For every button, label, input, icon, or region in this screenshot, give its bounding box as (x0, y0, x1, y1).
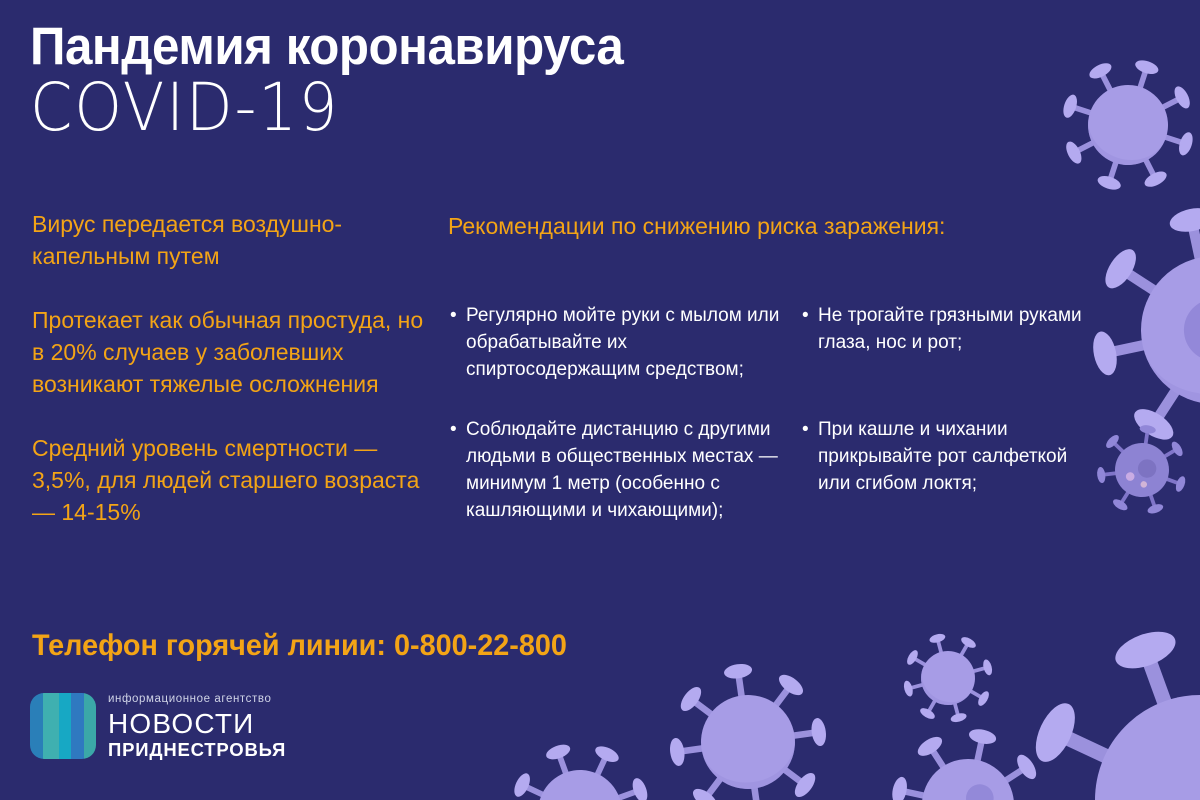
recommendations-heading: Рекомендации по снижению риска заражения… (448, 210, 968, 243)
fact-item: Средний уровень смертности — 3,5%, для л… (32, 432, 432, 528)
bullet-text: Регулярно мойте руки с мылом или обрабат… (466, 305, 779, 380)
fact-item: Протекает как обычная простуда, но в 20%… (32, 304, 432, 400)
hotline-text: Телефон горячей линии: 0-800-22-800 (32, 627, 567, 665)
facts-column: Вирус передается воздушно-капельным путе… (32, 208, 432, 528)
bullet-text: Не трогайте грязными руками глаза, нос и… (818, 305, 1082, 353)
fact-item: Вирус передается воздушно-капельным путе… (32, 208, 432, 272)
logo-text-block: информационное агентство НОВОСТИ ПРИДНЕС… (108, 692, 286, 761)
bullet-item: • При кашле и чихании прикрывайте рот са… (800, 416, 1100, 497)
bullet-text: Соблюдайте дистанцию с другими людьми в … (466, 419, 778, 521)
logo-name-secondary: ПРИДНЕСТРОВЬЯ (108, 739, 286, 761)
infographic-poster: Пандемия коронавируса COVID-19 Вирус пер… (0, 0, 1200, 800)
bullet-column-left: • Регулярно мойте руки с мылом или обраб… (448, 302, 800, 524)
bullet-marker-icon: • (450, 302, 457, 329)
bullet-item: • Регулярно мойте руки с мылом или обраб… (448, 302, 800, 383)
bullet-marker-icon: • (802, 302, 809, 329)
bullet-item: • Соблюдайте дистанцию с другими людьми … (448, 416, 800, 524)
logo-mark-icon (30, 693, 96, 759)
bullet-item: • Не трогайте грязными руками глаза, нос… (800, 302, 1100, 356)
page-title: Пандемия коронавируса (30, 18, 737, 76)
recommendations-bullets: • Регулярно мойте руки с мылом или обраб… (448, 302, 1168, 524)
bullet-text: При кашле и чихании прикрывайте рот салф… (818, 419, 1067, 494)
bullet-column-right: • Не трогайте грязными руками глаза, нос… (800, 302, 1100, 524)
logo-tagline: информационное агентство (108, 694, 286, 706)
bullet-marker-icon: • (802, 416, 809, 443)
poster-header: Пандемия коронавируса COVID-19 (30, 18, 790, 144)
bullet-marker-icon: • (450, 416, 457, 443)
poster-content: Пандемия коронавируса COVID-19 Вирус пер… (0, 0, 1200, 800)
page-subtitle: COVID-19 (30, 72, 729, 144)
agency-logo: информационное агентство НОВОСТИ ПРИДНЕС… (30, 692, 286, 761)
logo-name-primary: НОВОСТИ (108, 709, 286, 739)
